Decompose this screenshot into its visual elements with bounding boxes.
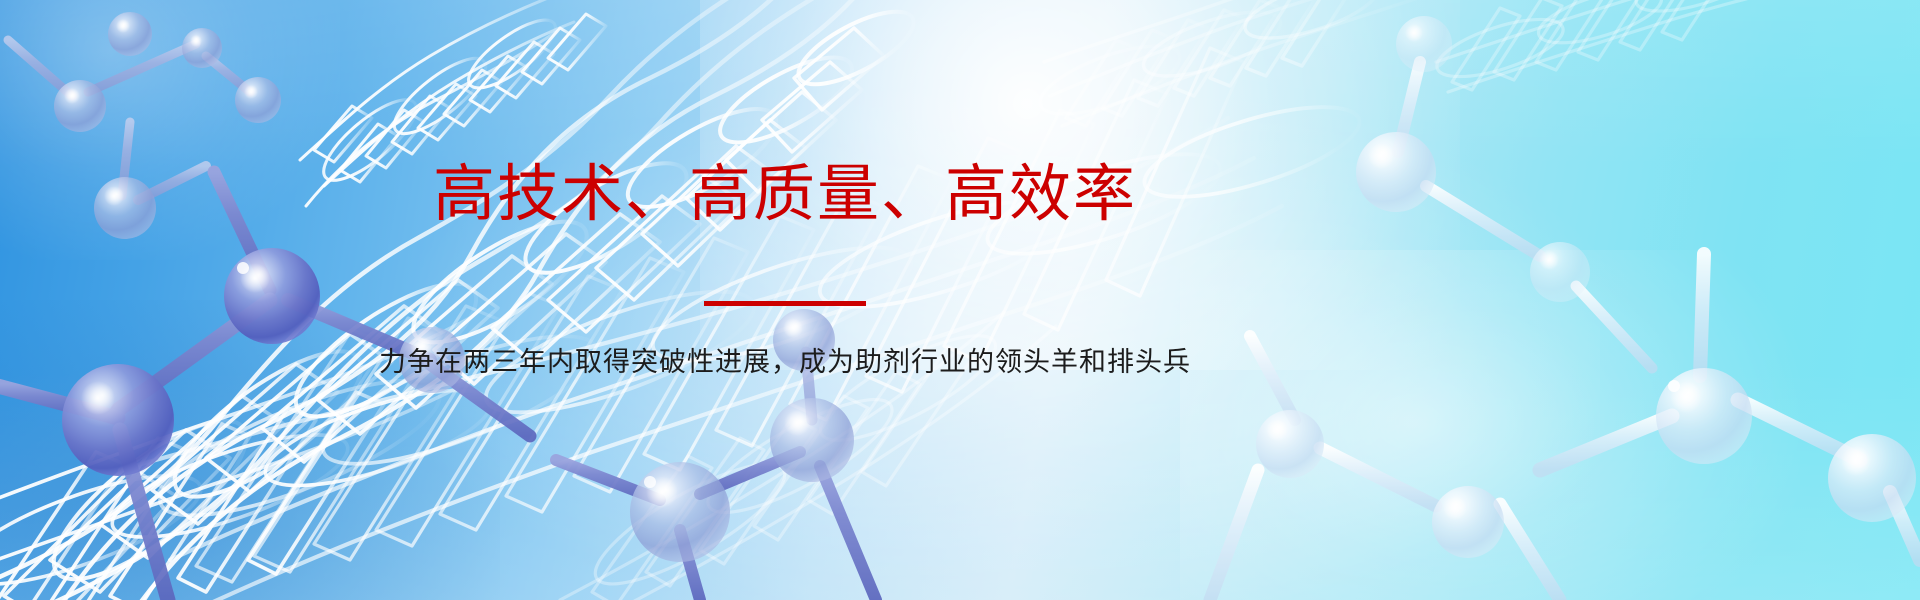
- molecule-clusters: [0, 0, 1920, 600]
- hero-banner: 高技术、高质量、高效率 力争在两三年内取得突破性进展，成为助剂行业的领头羊和排头…: [0, 0, 1920, 600]
- molecule-cluster-right: [1210, 16, 1920, 600]
- molecule-cluster-left: [0, 12, 430, 600]
- molecule-cluster-center: [399, 309, 876, 600]
